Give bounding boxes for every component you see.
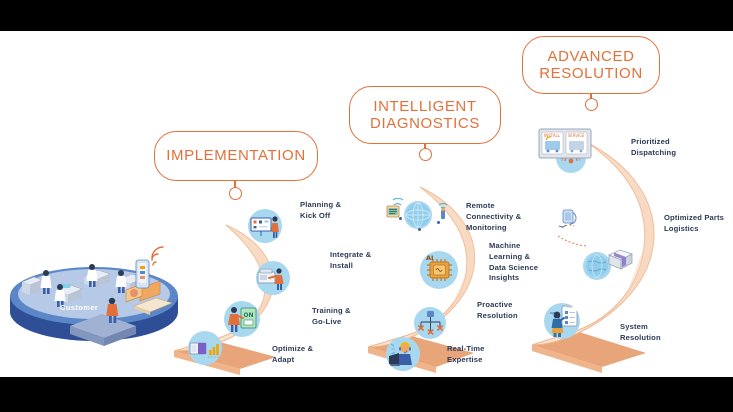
customer-platform: Customer: [8, 246, 184, 356]
stage-label-intelligent-diagnostics-line2: DIAGNOSTICS: [370, 115, 480, 132]
note-optimize-adapt: Optimize & Adapt: [272, 344, 313, 366]
stage-label-intelligent-diagnostics[interactable]: INTELLIGENT DIAGNOSTICS: [349, 86, 501, 144]
letterbox-top: [0, 0, 733, 31]
note-real-time-expertise: Real-Time Expertise: [447, 344, 485, 366]
note-remote-connectivity-monitoring: Remote Connectivity & Monitoring: [466, 201, 521, 233]
svg-text:AI: AI: [426, 254, 433, 262]
wifi-device-icon: [434, 199, 452, 223]
note-planning-kick-off: Planning & Kick Off: [300, 200, 341, 222]
note-prioritized-dispatching: Prioritized Dispatching: [631, 137, 676, 159]
note-machine-learning-insights: Machine Learning & Data Science Insights: [489, 241, 538, 284]
note-optimized-parts-logistics: Optimized Parts Logistics: [664, 213, 724, 235]
decision-flow-icon: [414, 307, 446, 339]
stage-label-implementation[interactable]: IMPLEMENTATION: [154, 131, 318, 181]
svg-text:SERVICE: SERVICE: [568, 133, 585, 138]
stage-label-advanced-resolution[interactable]: ADVANCED RESOLUTION: [522, 36, 660, 94]
note-integrate-install: Integrate & Install: [330, 250, 371, 272]
connector-dot-intelligent-diagnostics: [419, 148, 432, 161]
connector-dot-implementation: [229, 187, 242, 200]
stage-label-advanced-resolution-line2: RESOLUTION: [539, 65, 643, 82]
stage-label-implementation-text: IMPLEMENTATION: [166, 147, 306, 164]
note-proactive-resolution: Proactive Resolution: [477, 300, 518, 322]
customer-platform-label: Customer: [60, 303, 98, 312]
svg-text:INSTALL: INSTALL: [544, 133, 561, 138]
note-system-resolution: System Resolution: [620, 322, 661, 344]
whiteboard-planning-icon: [248, 209, 282, 243]
stage-label-advanced-resolution-line1: ADVANCED: [539, 48, 643, 65]
stage-label-intelligent-diagnostics-line1: INTELLIGENT: [370, 98, 480, 115]
network-globe-icon: [404, 201, 432, 229]
analytics-optimize-icon: [188, 331, 222, 365]
headset-support-icon: [386, 337, 420, 371]
infographic-canvas: IMPLEMENTATION INTELLIGENT DIAGNOSTICS A…: [0, 31, 733, 377]
dispatch-route-icon: [548, 206, 588, 266]
equipment-install-icon: [256, 261, 290, 295]
training-on-switch-icon: ON: [224, 301, 260, 337]
dispatch-board-icon: INSTALL SERVICE: [538, 127, 592, 163]
letterbox-bottom: [0, 377, 733, 412]
infographic-root: IMPLEMENTATION INTELLIGENT DIAGNOSTICS A…: [0, 0, 733, 412]
connector-dot-advanced-resolution: [585, 98, 598, 111]
note-training-go-live: Training & Go-Live: [312, 306, 351, 328]
technician-checklist-icon: [544, 303, 580, 339]
svg-text:ON: ON: [243, 312, 253, 319]
parts-box-icon: [606, 245, 636, 273]
ai-chip-icon: AI: [420, 251, 458, 289]
